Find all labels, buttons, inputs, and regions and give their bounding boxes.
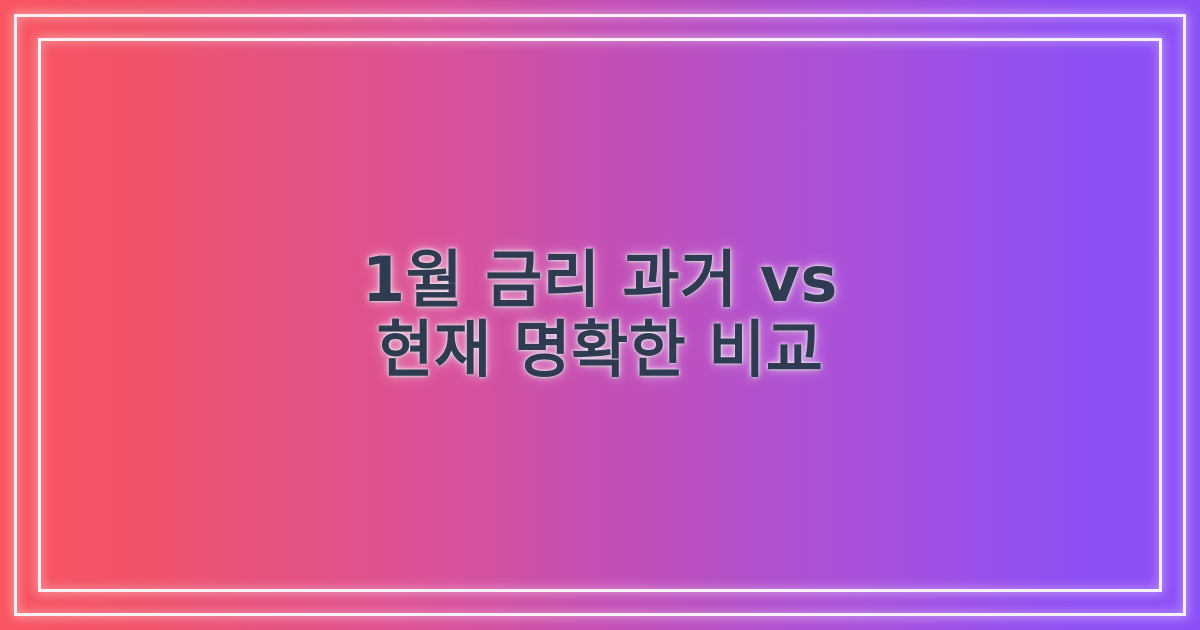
title-line-2: 현재 명확한 비교 — [377, 315, 824, 385]
thumbnail-card: 1월 금리 과거 vs 현재 명확한 비교 — [0, 0, 1200, 630]
title-line-1: 1월 금리 과거 vs — [362, 245, 838, 315]
title-block: 1월 금리 과거 vs 현재 명확한 비교 — [0, 0, 1200, 630]
